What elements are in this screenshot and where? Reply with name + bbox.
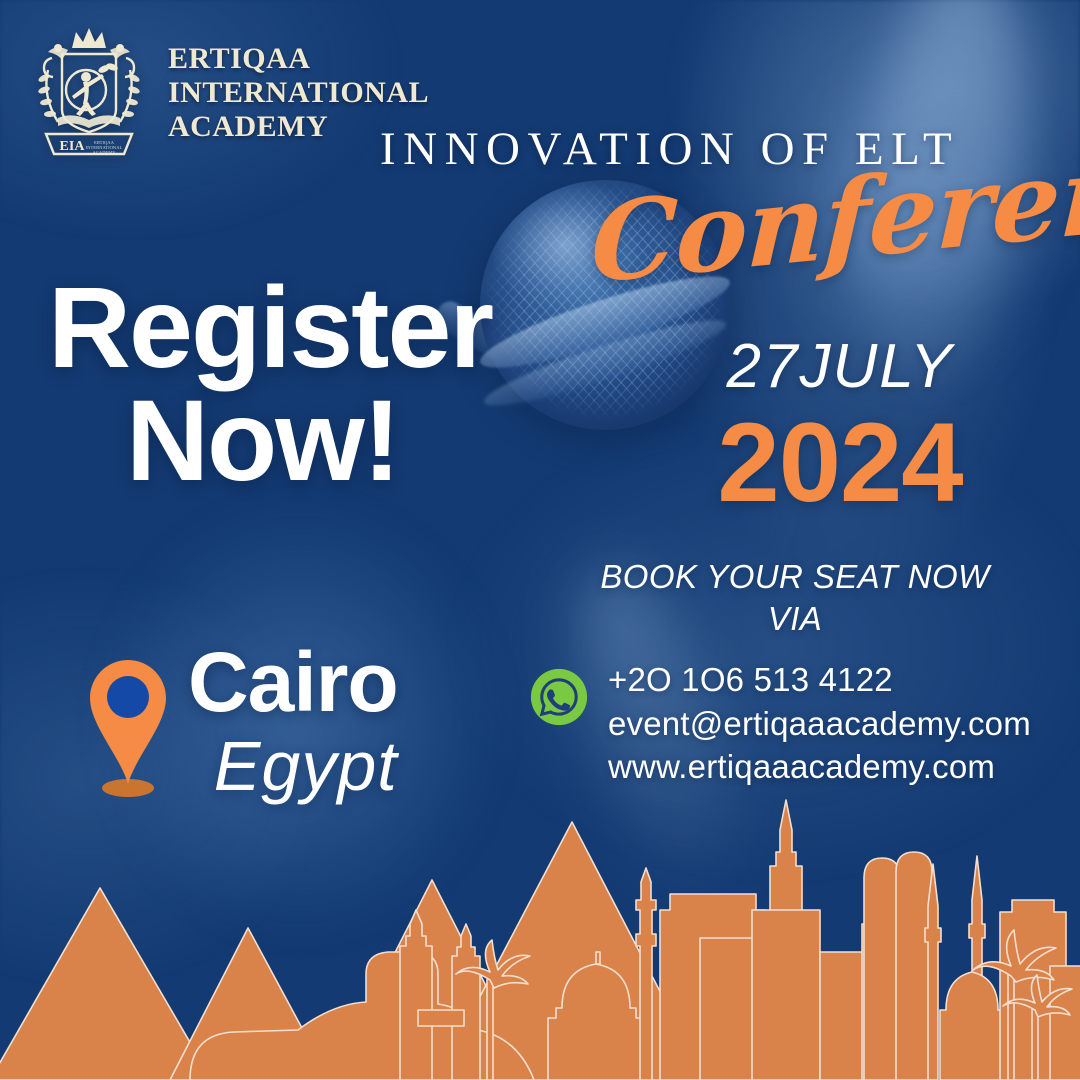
event-date-block: 27JULY 2024 bbox=[660, 336, 1020, 522]
tower-round-left bbox=[864, 858, 900, 1080]
whatsapp-icon[interactable] bbox=[530, 668, 588, 726]
brand-name-line-2: INTERNATIONAL bbox=[168, 76, 429, 110]
location-city: Cairo bbox=[188, 640, 398, 724]
contact-phone[interactable]: +2O 1O6 513 4122 bbox=[608, 658, 1031, 702]
booking-instruction: BOOK YOUR SEAT NOW VIA bbox=[560, 556, 1030, 640]
event-year: 2024 bbox=[660, 404, 1020, 522]
cairo-skyline-silhouette bbox=[0, 760, 1080, 1080]
event-day-month: 27JULY bbox=[660, 336, 1020, 398]
ertiqaa-crest-logo: EIA ERTIQAA INTERNATIONAL ACADEMY bbox=[28, 22, 150, 164]
building-rect-b bbox=[752, 910, 820, 1080]
minaret-b bbox=[452, 924, 480, 1080]
minaret-base-wall bbox=[418, 1010, 464, 1026]
register-line-1: Register bbox=[48, 264, 492, 392]
crest-banner-text: EIA bbox=[60, 139, 86, 154]
poster-canvas: EIA ERTIQAA INTERNATIONAL ACADEMY ERTIQA… bbox=[0, 0, 1080, 1080]
contact-email[interactable]: event@ertiqaaacademy.com bbox=[608, 702, 1031, 746]
brand-name-line-1: ERTIQAA bbox=[168, 42, 429, 76]
booking-line-1: BOOK YOUR SEAT NOW bbox=[560, 556, 1030, 598]
booking-line-2: VIA bbox=[560, 598, 1030, 640]
headline-group: INNOVATION OF ELT Conference bbox=[380, 126, 1000, 173]
register-line-2: Now! bbox=[126, 385, 492, 498]
svg-text:ACADEMY: ACADEMY bbox=[92, 150, 116, 155]
brand-logo: EIA ERTIQAA INTERNATIONAL ACADEMY ERTIQA… bbox=[28, 22, 429, 164]
tower-round-right bbox=[896, 852, 932, 1080]
register-now-callout: Register Now! bbox=[48, 272, 492, 497]
